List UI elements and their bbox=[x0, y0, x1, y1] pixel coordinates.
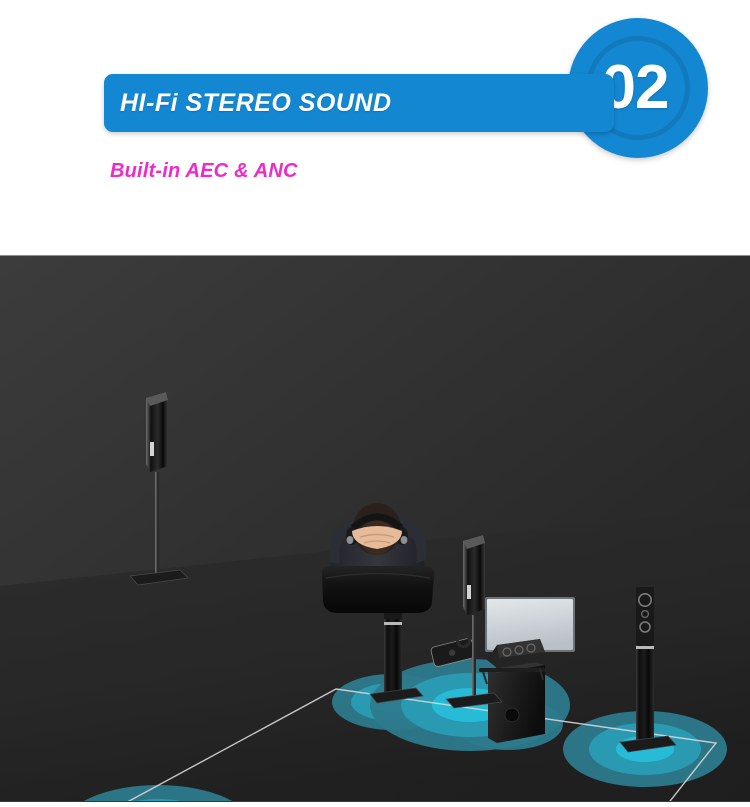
title-bar: HI-Fi STEREO SOUND bbox=[104, 74, 614, 132]
scene-svg bbox=[0, 256, 750, 802]
promo-page: 02 HI-Fi STEREO SOUND Built-in AEC & ANC bbox=[0, 0, 750, 807]
page-title: HI-Fi STEREO SOUND bbox=[104, 89, 392, 118]
header-section: 02 HI-Fi STEREO SOUND Built-in AEC & ANC bbox=[0, 0, 750, 255]
scene-bottom-edge bbox=[0, 801, 750, 802]
page-subtitle: Built-in AEC & ANC bbox=[110, 160, 298, 183]
home-theatre-illustration bbox=[0, 255, 750, 802]
